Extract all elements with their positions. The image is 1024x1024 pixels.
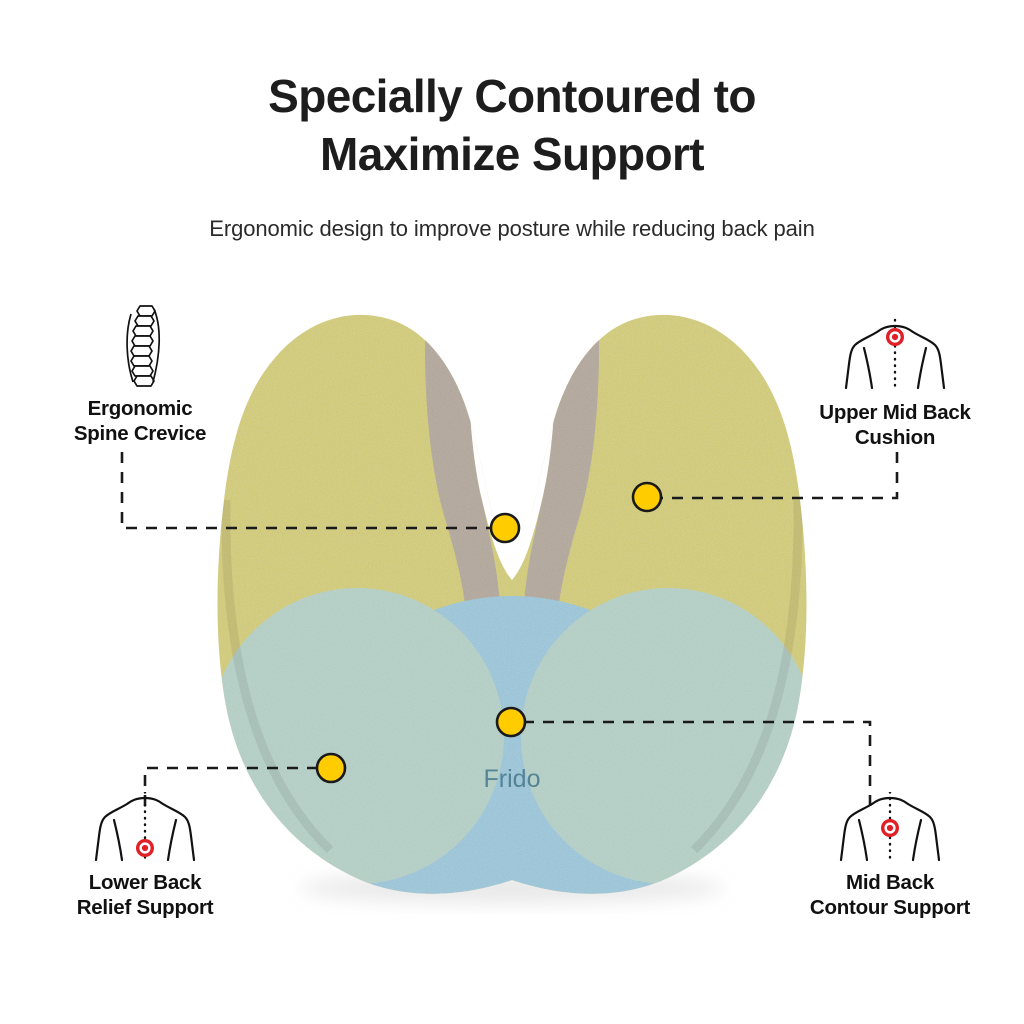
callout-label-lower-back-relief-support: Lower Back Relief Support bbox=[15, 870, 275, 920]
marker-ergonomic-spine-crevice[interactable] bbox=[491, 514, 519, 542]
callout-label-line-2: Cushion bbox=[765, 425, 1024, 450]
marker-upper-mid-back-cushion[interactable] bbox=[633, 483, 661, 511]
callout-ergonomic-spine-crevice: Ergonomic Spine Crevice bbox=[10, 302, 270, 446]
callout-upper-mid-back-cushion: Upper Mid Back Cushion bbox=[765, 318, 1024, 450]
cushion-body bbox=[200, 290, 830, 910]
mid-back-torso-icon bbox=[831, 792, 949, 862]
lower-back-torso-icon bbox=[86, 792, 204, 862]
callout-label-mid-back-contour-support: Mid Back Contour Support bbox=[760, 870, 1020, 920]
callout-label-line-1: Upper Mid Back bbox=[765, 400, 1024, 425]
callout-label-line-1: Ergonomic bbox=[10, 396, 270, 421]
callout-lower-back-relief-support: Lower Back Relief Support bbox=[15, 792, 275, 920]
callout-label-line-2: Relief Support bbox=[15, 895, 275, 920]
callout-label-ergonomic-spine-crevice: Ergonomic Spine Crevice bbox=[10, 396, 270, 446]
callout-label-line-1: Lower Back bbox=[15, 870, 275, 895]
callout-mid-back-contour-support: Mid Back Contour Support bbox=[760, 792, 1020, 920]
spine-icon bbox=[112, 302, 168, 388]
infographic-page: Specially Contoured to Maximize Support … bbox=[0, 0, 1024, 1024]
marker-lower-back-relief-support[interactable] bbox=[317, 754, 345, 782]
callout-label-line-1: Mid Back bbox=[760, 870, 1020, 895]
callout-label-upper-mid-back-cushion: Upper Mid Back Cushion bbox=[765, 400, 1024, 450]
marker-mid-back-contour-support[interactable] bbox=[497, 708, 525, 736]
callout-label-line-2: Spine Crevice bbox=[10, 421, 270, 446]
brand-wordmark: Frido bbox=[484, 765, 541, 793]
upper-back-torso-icon bbox=[836, 318, 954, 392]
callout-label-line-2: Contour Support bbox=[760, 895, 1020, 920]
